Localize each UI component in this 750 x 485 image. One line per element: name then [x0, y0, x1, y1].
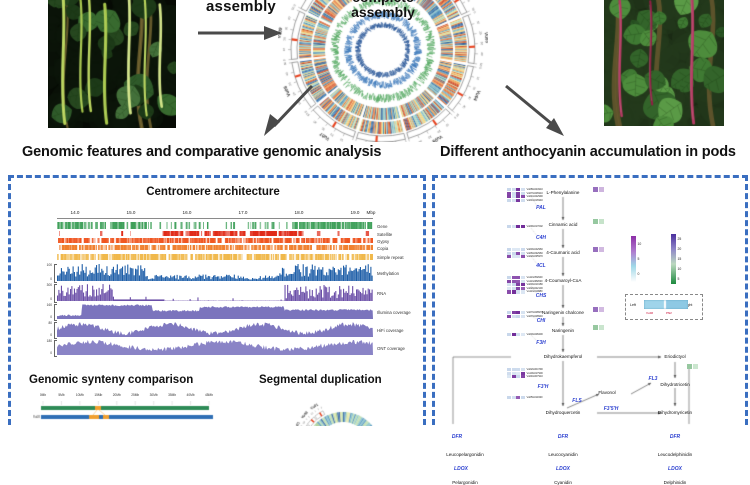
synteny-tick-4: 20Mb — [113, 393, 121, 397]
compound-12: Leucopelargonidin — [446, 452, 484, 457]
heatmap-cell — [512, 199, 516, 202]
circos-title-line2: assembly — [318, 5, 448, 20]
metabolite-cell — [593, 187, 598, 192]
heatmap-cell — [512, 333, 516, 336]
track-label-1: Satellite — [377, 232, 392, 237]
enzyme-DFR-left: DFR — [452, 434, 462, 440]
scale-bracket-8 — [54, 322, 57, 339]
enzyme-C4H: C4H — [536, 235, 546, 241]
assembly-arrow-icon — [196, 24, 284, 42]
heatmap-cell — [516, 290, 520, 293]
gene-id: Vu03G028400 — [527, 333, 543, 336]
green-cowpea-pods-photo — [48, 0, 176, 128]
scale-max-7: 160 — [37, 303, 52, 307]
metabolite-heatmap — [687, 364, 698, 369]
metabolite-heatmap — [593, 187, 604, 192]
synteny-tick-5: 25Mb — [131, 393, 139, 397]
heatmap-row: Vu07G028940 — [507, 315, 543, 318]
track-methylation — [57, 264, 373, 281]
enzyme-F3H: F3H — [536, 340, 545, 346]
gene-expression-heatmap: Vu03G028400 — [507, 333, 543, 336]
heatmap-cell — [521, 290, 525, 293]
compound-10: Dihydromyricetin — [658, 410, 692, 415]
heatmap-row: Vu01G016940 — [507, 199, 543, 202]
centromere-tracks-area: 14.015.016.017.018.019.0Mbp GeneSatellit… — [29, 204, 401, 356]
heatmap-cell — [521, 375, 525, 378]
left-section-title: Genomic features and comparative genomic… — [22, 144, 381, 160]
track-rna — [57, 284, 373, 301]
gene-expression-heatmap: Vu07G028970Vu07G028940 — [507, 311, 543, 318]
heatmap-cell — [512, 290, 516, 293]
enzyme-FLI: FL3 — [649, 376, 658, 382]
heatmap-cell — [516, 255, 520, 258]
heatmap-cell — [507, 315, 511, 318]
synteny-tick-6: 30Mb — [150, 393, 158, 397]
compound-13: Leucocyanidin — [548, 452, 577, 457]
track-label-0: Gene — [377, 224, 388, 229]
colorbar-purple-cyan-tick-1: 5 — [638, 257, 640, 261]
gene-id: Vu09G017002 — [527, 225, 543, 228]
enzyme-DFR-mid: DFR — [558, 434, 568, 440]
centromere-architecture-title: Centromere architecture — [11, 186, 415, 198]
anthocyanin-pathway-panel: L-PhenylalanineCinnamic acid4-Coumaric a… — [432, 175, 748, 425]
enzyme-LDOX-left: LDOX — [454, 466, 468, 472]
gene-expression-heatmap: Vu08G024910Vu07G026910Vu01G022990Vu01G01… — [507, 188, 543, 202]
compound-1: Cinnamic acid — [549, 222, 578, 227]
metabolite-heatmap — [593, 247, 604, 252]
synteny-title: Genomic synteny comparison — [29, 374, 193, 386]
track-label-2: Gypsy — [377, 239, 389, 244]
compound-5: Naringenin — [552, 328, 574, 333]
gene-expression-heatmap: Vu09G017002 — [507, 225, 543, 228]
metabolite-heatmap — [593, 325, 604, 330]
metabolite-heatmap — [593, 219, 604, 224]
heatmap-cell — [516, 375, 520, 378]
synteny-tick-3: 15Mb — [94, 393, 102, 397]
heatmap-row: Vu09G017002 — [507, 225, 543, 228]
heatmap-cell — [507, 199, 511, 202]
synteny-figure: 0Mb5Mb10Mb15Mb20Mb25Mb30Mb35Mb40Mb45Mb — [33, 393, 223, 425]
colorbar-purple-green-tick-4: 5 — [678, 277, 680, 281]
heatmap-row: Vu04G007910 — [507, 375, 543, 378]
track-label-3: Copia — [377, 246, 388, 251]
metabolite-cell — [599, 219, 604, 224]
track-ont-coverage — [57, 340, 373, 355]
colorbar-purple-green — [671, 234, 676, 284]
scale-min-8: 0 — [37, 333, 52, 337]
compound-15: Pelargonidin — [452, 480, 478, 485]
gene-id: Vu05G011930 — [527, 396, 543, 399]
gene-expression-heatmap: Vu05G011930 — [507, 396, 542, 399]
synteny-tick-8: 40Mb — [187, 393, 195, 397]
enzyme-DFR-right: DFR — [670, 434, 680, 440]
heatmap-cell — [507, 396, 511, 399]
metabolite-heatmap — [593, 307, 604, 312]
centromere-axis-line — [57, 218, 373, 219]
segdup-title: Segmental duplication — [259, 374, 382, 386]
heatmap-cell — [521, 333, 525, 336]
gene-id: Vu01G016940 — [527, 199, 543, 202]
genomic-features-panel: Centromere architecture 14.015.016.017.0… — [8, 175, 426, 425]
heatmap-row: Vu11G010980 — [507, 290, 543, 293]
metabolite-cell — [693, 364, 698, 369]
track-label-9: ONT coverage — [377, 346, 405, 351]
synteny-tick-9: 45Mb — [205, 393, 213, 397]
metabolite-cell — [593, 219, 598, 224]
scale-min-5: 0 — [37, 277, 52, 281]
heatmap-cell — [507, 290, 511, 293]
gene-id: Vu04G007910 — [527, 375, 543, 378]
heatmap-cell — [507, 333, 511, 336]
metabolite-cell — [593, 247, 598, 252]
track-label-4: Simple repeat — [377, 255, 404, 260]
axis-tick-3: 17.0 — [239, 210, 248, 215]
compound-2: 4-Coumaric acid — [546, 250, 579, 255]
gene-id: Vu02G035970 — [527, 255, 543, 258]
scale-max-6: 300 — [37, 283, 52, 287]
compound-8: Dihydrotricetin — [660, 382, 689, 387]
track-illumina-coverage — [57, 304, 373, 319]
axis-unit: Mbp — [367, 210, 376, 215]
colorbar-purple-cyan-tick-2: 0 — [638, 272, 640, 276]
heatmap-cell — [512, 396, 516, 399]
axis-tick-0: 14.0 — [71, 210, 80, 215]
heatmap-cell — [521, 396, 525, 399]
axis-tick-4: 18.0 — [295, 210, 304, 215]
legend-sub-right: PN2 — [666, 311, 672, 315]
heatmap-cell — [512, 255, 516, 258]
heatmap-cell — [512, 315, 516, 318]
synteny-tick-1: 5Mb — [58, 393, 64, 397]
compound-11: Flavonol — [598, 390, 615, 395]
scale-bracket-9 — [54, 340, 57, 357]
heatmap-cell — [521, 255, 525, 258]
down-arrow-right-icon — [500, 82, 570, 138]
axis-tick-1: 15.0 — [127, 210, 136, 215]
metabolite-cell — [599, 187, 604, 192]
top-overview-row: assembly complete assembly — [0, 0, 750, 140]
heatmap-cell — [521, 315, 525, 318]
gene-expression-heatmap: Vu02G004790Vu10G017900Vu04G007910 — [507, 368, 543, 378]
metabolite-cell — [593, 325, 598, 330]
compound-14: Leucodelphinidin — [658, 452, 692, 457]
scale-max-9: 180 — [37, 339, 52, 343]
track-label-5: Methylation — [377, 271, 399, 276]
compound-6: Dihydrokaempferol — [544, 354, 583, 359]
scale-max-5: 100 — [37, 263, 52, 267]
anthocyanin-pathway-diagram: L-PhenylalanineCinnamic acid4-Coumaric a… — [435, 178, 739, 425]
gene-id: Vu11G010980 — [527, 290, 543, 293]
compound-3: 4-Coumaroyl-CoA — [545, 278, 582, 283]
track-satellite — [57, 231, 373, 236]
heatmap-cell — [507, 225, 511, 228]
segdup-figure — [273, 392, 413, 426]
track-gene — [57, 222, 373, 229]
scale-bracket-6 — [54, 284, 57, 303]
track-simple-repeat — [57, 254, 373, 260]
axis-tick-2: 16.0 — [183, 210, 192, 215]
compound-16: Cyanidin — [554, 480, 572, 485]
heatmap-cell — [521, 199, 525, 202]
enzyme-LDOX-right: LDOX — [668, 466, 682, 472]
track-label-6: RNA — [377, 291, 386, 296]
colorbar-purple-cyan — [631, 236, 636, 282]
purple-cowpea-pods-photo — [604, 0, 724, 126]
enzyme-F35H: F3'5'H — [604, 406, 619, 412]
scale-bracket-5 — [54, 264, 57, 283]
heatmap-cell — [521, 225, 525, 228]
heatmap-cell — [507, 375, 511, 378]
synteny-tick-7: 35Mb — [168, 393, 176, 397]
metabolite-cell — [599, 247, 604, 252]
enzyme-FLS: FLS — [572, 398, 581, 404]
colorbar-purple-green-tick-3: 10 — [678, 267, 682, 271]
track-label-7: Illumina coverage — [377, 310, 411, 315]
scale-min-9: 0 — [37, 351, 52, 355]
colorbar-purple-cyan-tick-0: 10 — [638, 242, 642, 246]
metabolite-cell — [599, 325, 604, 330]
heatmap-cell — [512, 225, 516, 228]
heatmap-cell — [512, 375, 516, 378]
scale-min-7: 0 — [37, 315, 52, 319]
down-arrow-left-icon — [258, 82, 318, 138]
compound-9: Dihydroquercetin — [546, 410, 581, 415]
enzyme-CHS: CHS — [536, 293, 547, 299]
heatmap-cell — [516, 396, 520, 399]
compound-7: Eriodictyol — [664, 354, 685, 359]
heatmap-cell — [516, 199, 520, 202]
gene-expression-heatmap: Vu03G042960Vu06G032960Vu02G035970 — [507, 248, 543, 258]
scale-max-8: 80 — [37, 321, 52, 325]
enzyme-PAL: PAL — [536, 205, 546, 211]
heatmap-row: Vu05G011930 — [507, 396, 542, 399]
synteny-tick-2: 10Mb — [76, 393, 84, 397]
scale-min-6: 0 — [37, 297, 52, 301]
gene-expression-heatmap: Vu11G052940Vu11G082630Vu03G010180Vu02G02… — [507, 276, 543, 294]
heatmap-row: Vu03G028400 — [507, 333, 543, 336]
metabolite-cell — [687, 364, 692, 369]
heatmap-cell — [507, 255, 511, 258]
enzyme-4CL: 4CL — [536, 263, 545, 269]
legend-left-label: Left — [630, 303, 636, 307]
pathway-legend-box: Left Right Vu08 PN2 — [625, 294, 703, 320]
compound-17: Delphinidin — [664, 480, 687, 485]
colorbar-purple-green-tick-0: 25 — [678, 237, 682, 241]
gene-id: Vu07G028940 — [527, 315, 543, 318]
right-section-title: Different anthocyanin accumulation in po… — [440, 144, 736, 160]
enzyme-F3H2: F3'H — [538, 384, 549, 390]
axis-tick-5: 19.0 — [351, 210, 360, 215]
metabolite-cell — [593, 307, 598, 312]
circos-title: complete assembly — [318, 0, 448, 20]
enzyme-CHI: CHI — [537, 318, 546, 324]
track-hifi-coverage — [57, 322, 373, 337]
metabolite-cell — [599, 307, 604, 312]
synteny-tick-0: 0Mb — [40, 393, 46, 397]
track-copia — [57, 245, 373, 250]
scale-bracket-7 — [54, 304, 57, 321]
colorbar-purple-green-tick-1: 20 — [678, 247, 682, 251]
heatmap-cell — [516, 225, 520, 228]
legend-sub-left: Vu08 — [646, 311, 653, 315]
enzyme-LDOX-mid: LDOX — [556, 466, 570, 472]
compound-4: Naringenin chalcone — [542, 310, 584, 315]
colorbar-purple-green-tick-2: 15 — [678, 257, 682, 261]
track-label-8: HiFi coverage — [377, 328, 404, 333]
track-gypsy — [57, 238, 373, 243]
heatmap-row: Vu02G035970 — [507, 255, 543, 258]
heatmap-cell — [516, 333, 520, 336]
compound-0: L-Phenylalanine — [547, 190, 580, 195]
heatmap-cell — [516, 315, 520, 318]
